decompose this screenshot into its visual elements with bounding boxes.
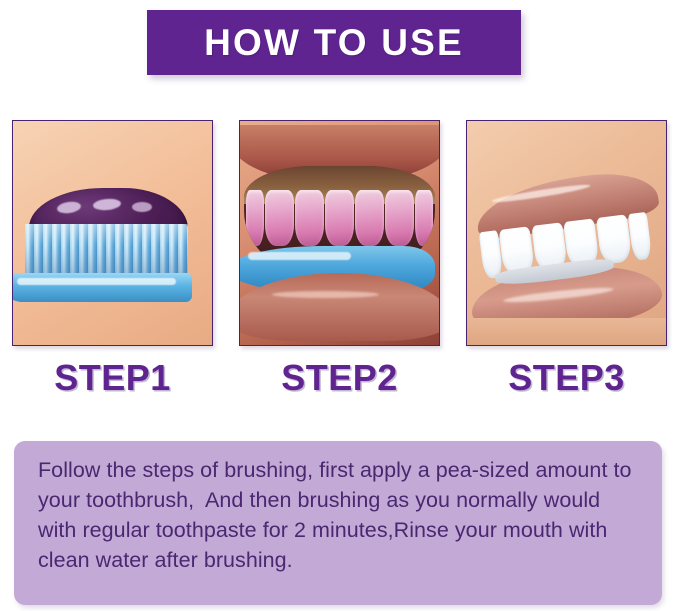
tooth — [295, 190, 324, 246]
step-image-panel-3 — [466, 120, 667, 346]
header-banner: HOW TO USE — [147, 10, 521, 75]
tooth — [265, 190, 294, 246]
tooth — [325, 190, 354, 246]
brushing-stained-teeth-image — [240, 121, 439, 345]
toothbrush-highlight — [248, 252, 351, 260]
step-label-2: STEP2 — [239, 356, 440, 404]
tooth — [596, 214, 633, 264]
step-image-panel-1 — [12, 120, 213, 346]
white-smile-image — [467, 121, 666, 345]
page-title: HOW TO USE — [204, 24, 464, 61]
step-labels-row: STEP1 STEP2 STEP3 — [12, 356, 667, 404]
toothpaste-highlight — [132, 202, 152, 212]
tooth — [355, 190, 384, 246]
handle-highlight — [17, 278, 176, 285]
lower-lip-highlight — [272, 291, 379, 298]
tooth — [246, 190, 264, 246]
lower-lip — [240, 273, 439, 340]
instructions-text: Follow the steps of brushing, first appl… — [38, 455, 638, 575]
step-label-3: STEP3 — [466, 356, 667, 404]
bristle-shading — [25, 224, 188, 278]
chin — [467, 318, 666, 345]
tooth — [415, 190, 433, 246]
step-image-panel-2 — [239, 120, 440, 346]
instructions-text-box: Follow the steps of brushing, first appl… — [14, 441, 662, 605]
toothpaste-on-toothbrush-image — [13, 121, 212, 345]
instruction-panels-row — [12, 120, 667, 348]
tooth — [385, 190, 414, 246]
stained-teeth-row — [246, 190, 433, 246]
step-label-1: STEP1 — [12, 356, 213, 404]
